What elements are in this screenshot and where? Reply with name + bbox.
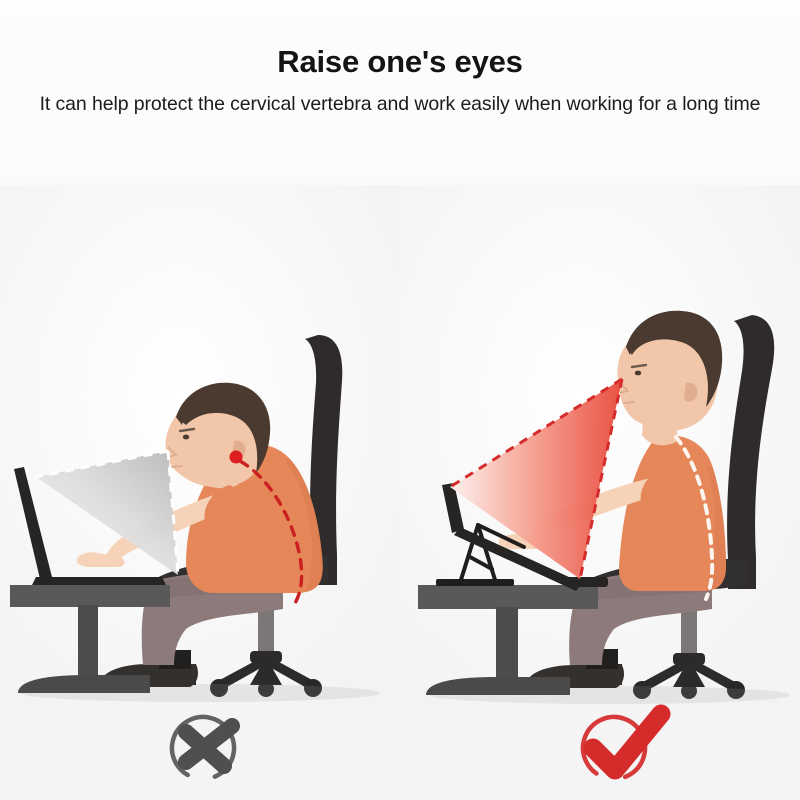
stand-base-bar — [436, 579, 514, 586]
correct-posture-illustration — [400, 185, 800, 705]
verdict-row: Incorrect Correct — [0, 700, 800, 800]
mouth — [624, 402, 634, 403]
page-subtitle: It can help protect the cervical vertebr… — [0, 90, 800, 118]
eye — [183, 435, 189, 440]
check-icon — [565, 700, 685, 795]
incorrect-posture-illustration — [0, 185, 400, 705]
verdict-correct: Correct — [565, 700, 685, 795]
page-title: Raise one's eyes — [0, 46, 800, 79]
cross-icon — [150, 700, 270, 795]
laptop-base — [32, 577, 166, 585]
laptop-hinge-end — [566, 577, 608, 587]
eye — [635, 371, 641, 376]
incorrect-posture-panel — [0, 185, 400, 705]
verdict-incorrect: Incorrect — [150, 700, 270, 795]
poster-root: Raise one's eyes It can help protect the… — [0, 0, 800, 800]
header: Raise one's eyes It can help protect the… — [0, 0, 800, 118]
correct-posture-panel — [400, 185, 800, 705]
mouth — [172, 466, 182, 467]
desk-top — [10, 585, 170, 607]
check-stroke — [593, 714, 661, 770]
